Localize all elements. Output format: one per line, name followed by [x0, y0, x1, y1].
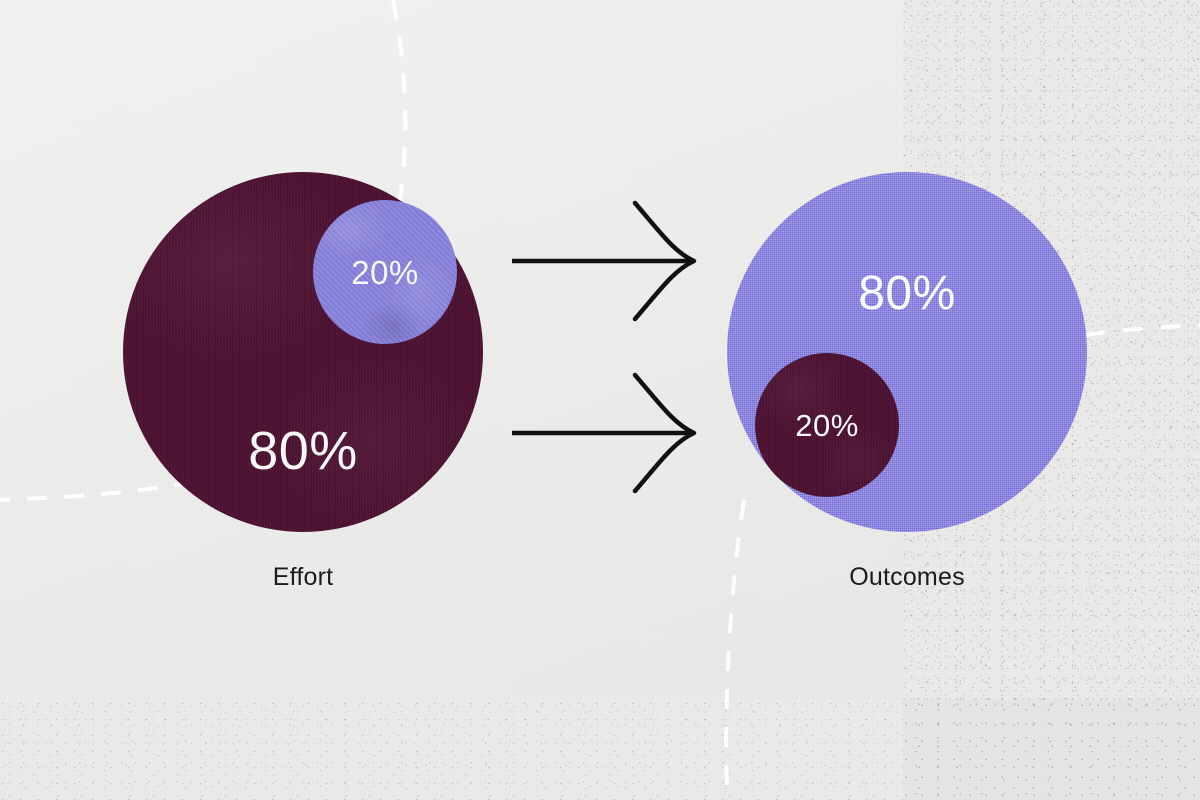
outcomes-minor-circle: 20% — [755, 353, 899, 497]
effort-caption: Effort — [273, 563, 334, 592]
effort-minor-percent-label: 20% — [351, 256, 419, 289]
effort-minor-circle: 20% — [313, 200, 457, 344]
outcomes-major-percent-label: 80% — [858, 270, 956, 318]
effort-major-percent-label: 80% — [248, 424, 358, 478]
outcomes-caption: Outcomes — [849, 563, 965, 592]
infographic-canvas: 80% 20% Effort 80% 20% Outcomes — [0, 0, 1200, 800]
outcomes-minor-percent-label: 20% — [795, 410, 859, 441]
